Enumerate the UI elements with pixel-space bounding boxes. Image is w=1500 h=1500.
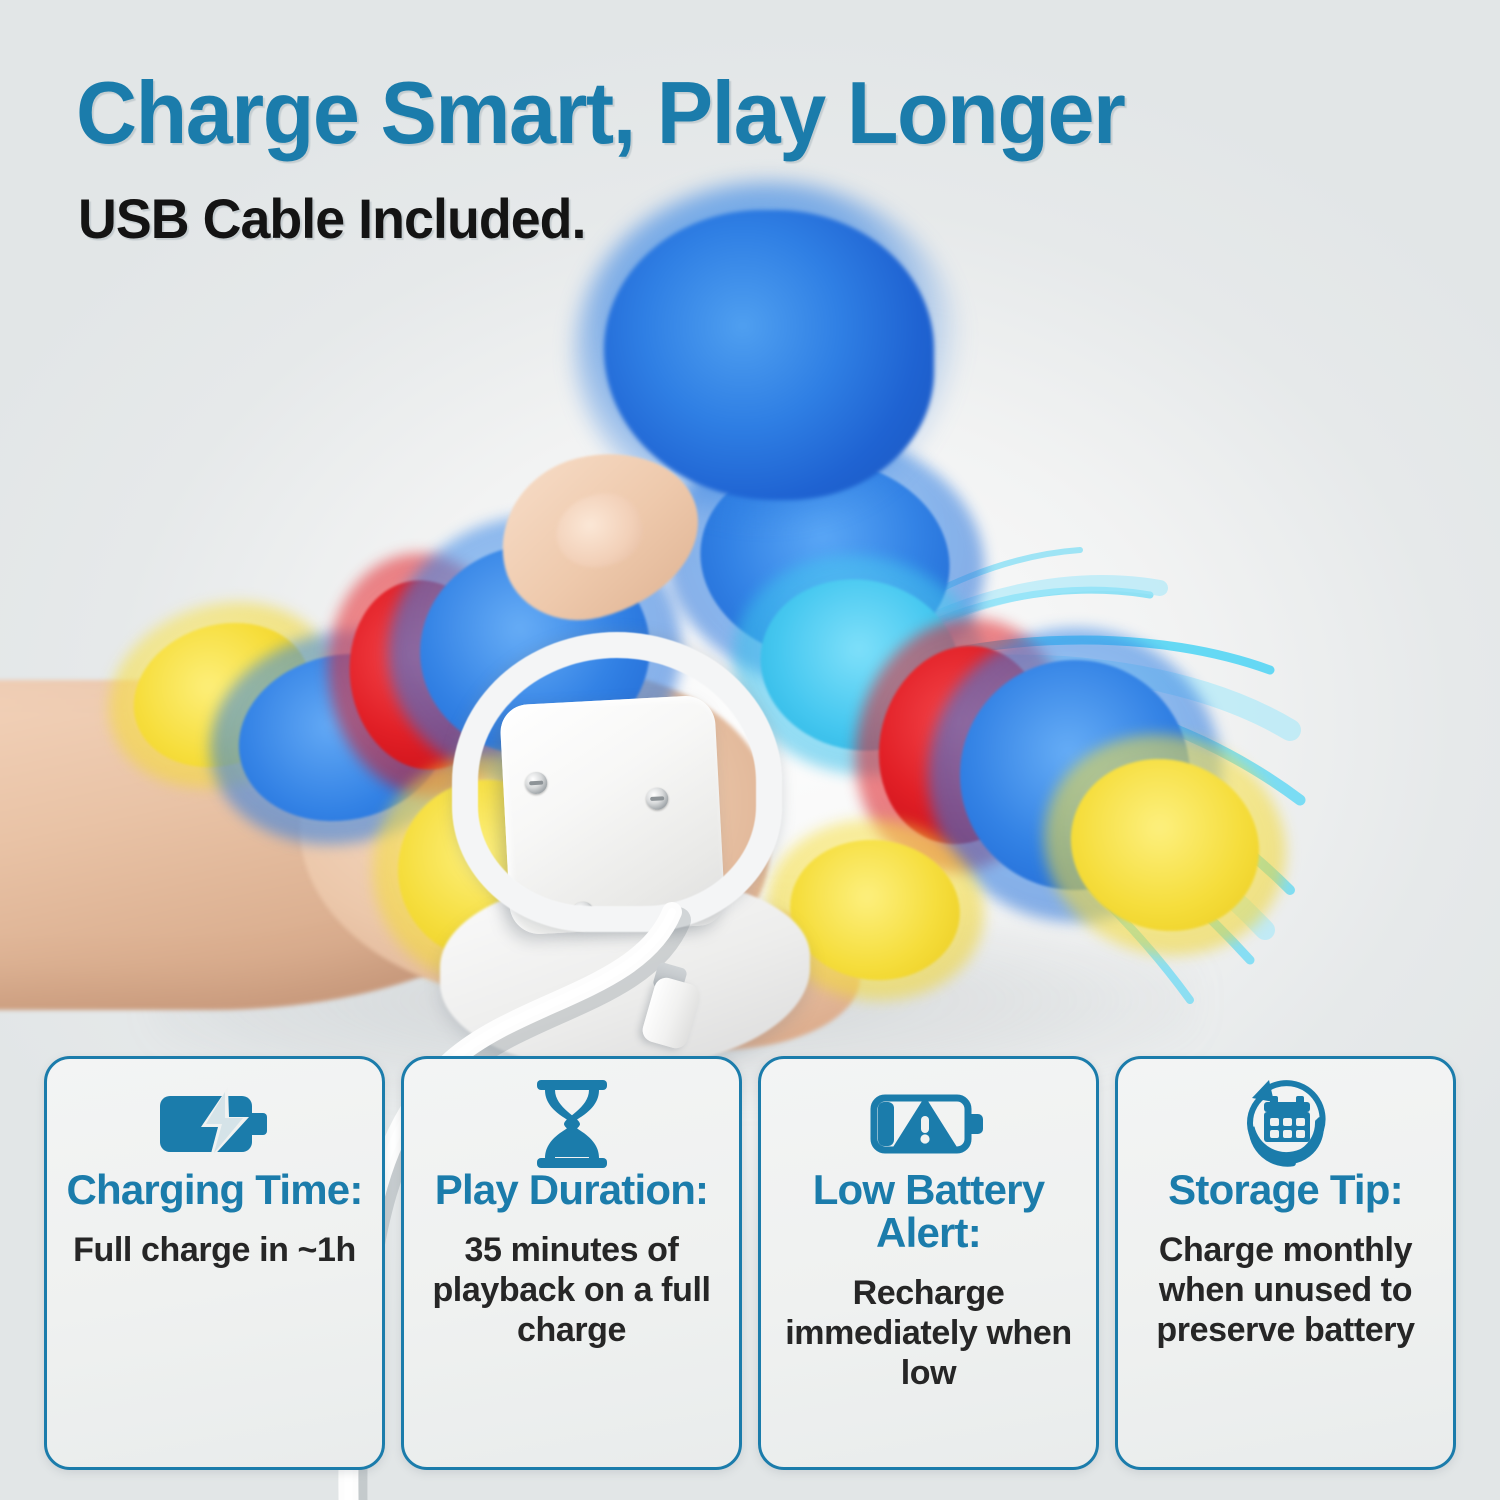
card-title: Charging Time: (66, 1169, 362, 1212)
feature-cards: Charging Time: Full charge in ~1h Play D… (44, 1056, 1456, 1470)
product-photo (0, 200, 1500, 1200)
card-storage-tip[interactable]: Storage Tip: Charge monthly when unused … (1115, 1056, 1456, 1470)
fur-tuft-yellow-bottom-right (783, 831, 967, 988)
plush-cuff (452, 632, 782, 932)
calendar-refresh-icon (1236, 1085, 1336, 1163)
hourglass-icon (531, 1085, 613, 1163)
battery-warning-icon (870, 1085, 988, 1163)
infographic-page: Charge Smart, Play Longer USB Cable Incl… (0, 0, 1500, 1500)
card-charging-time[interactable]: Charging Time: Full charge in ~1h (44, 1056, 385, 1470)
card-title: Play Duration: (435, 1169, 709, 1212)
card-body: Recharge immediately when low (775, 1273, 1082, 1393)
battery-charging-icon (157, 1085, 273, 1163)
card-title: Low Battery Alert: (775, 1169, 1082, 1255)
card-low-battery-alert[interactable]: Low Battery Alert: Recharge immediately … (758, 1056, 1099, 1470)
card-body: 35 minutes of playback on a full charge (418, 1230, 725, 1350)
page-title: Charge Smart, Play Longer (76, 62, 1124, 164)
fur-tuft-yellow-right (1048, 735, 1281, 955)
card-title: Storage Tip: (1168, 1169, 1403, 1212)
card-body: Full charge in ~1h (73, 1230, 356, 1270)
card-play-duration[interactable]: Play Duration: 35 minutes of playback on… (401, 1056, 742, 1470)
card-body: Charge monthly when unused to preserve b… (1132, 1230, 1439, 1350)
